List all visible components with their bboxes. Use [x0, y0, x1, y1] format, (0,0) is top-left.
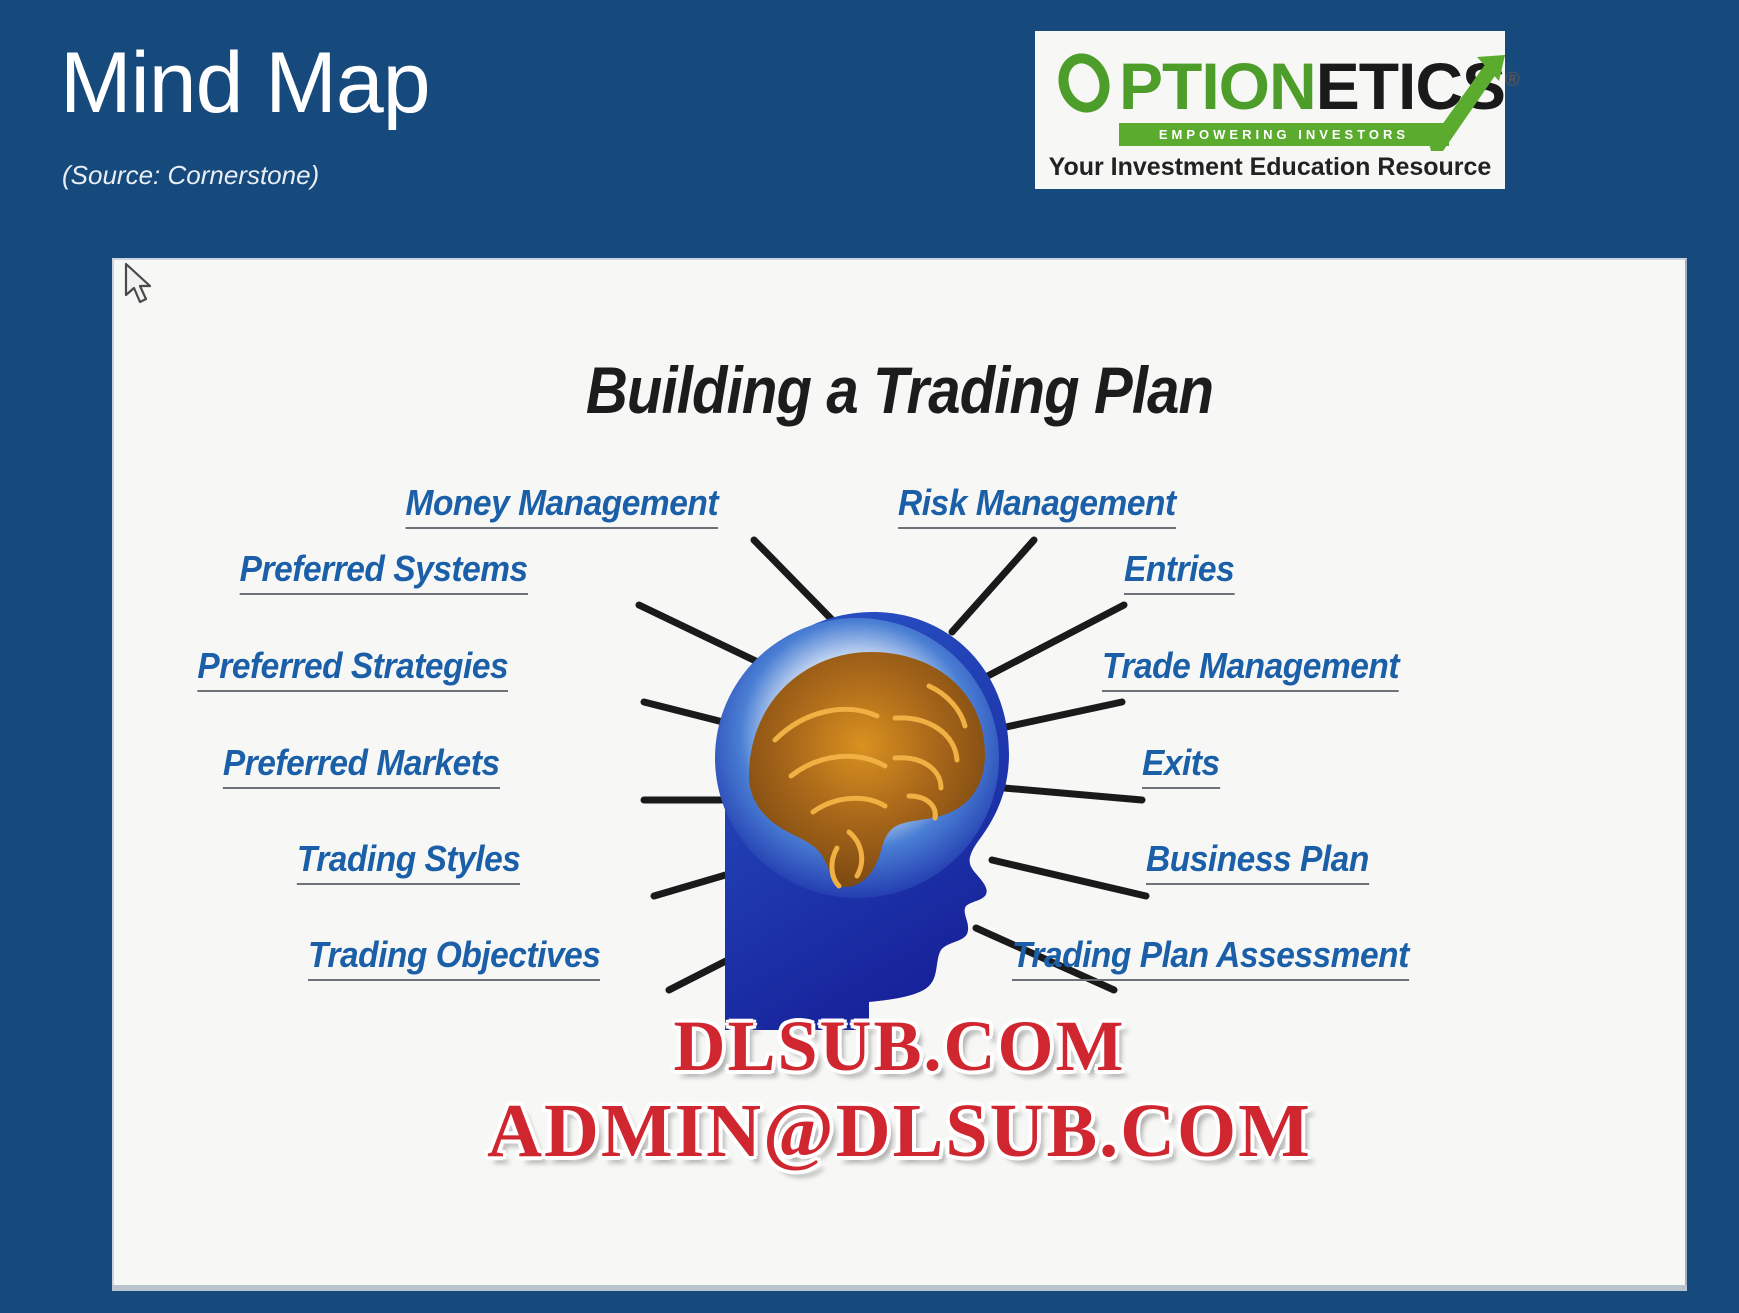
node-preferred-systems[interactable]: Preferred Systems	[240, 548, 528, 595]
node-business-plan[interactable]: Business Plan	[1146, 838, 1369, 885]
registered-trademark-icon: ®	[1505, 69, 1519, 91]
logo-tagline: Your Investment Education Resource	[1035, 153, 1505, 182]
slide-content-panel: Building a Trading Plan	[112, 258, 1687, 1285]
logo-o-icon	[1057, 51, 1119, 117]
optionetics-logo: PTIONETICS® EMPOWERING INVESTORS Your In…	[1035, 31, 1505, 189]
node-exits[interactable]: Exits	[1142, 742, 1220, 789]
node-trading-styles[interactable]: Trading Styles	[297, 838, 521, 885]
head-brain-graphic	[679, 590, 1049, 1030]
node-risk-management[interactable]: Risk Management	[898, 482, 1176, 529]
page-title: Mind Map	[60, 40, 430, 126]
node-preferred-strategies[interactable]: Preferred Strategies	[197, 645, 508, 692]
diagram-title: Building a Trading Plan	[208, 352, 1590, 428]
slide-source-note: (Source: Cornerstone)	[62, 160, 319, 191]
node-trading-objectives[interactable]: Trading Objectives	[308, 934, 600, 981]
node-preferred-markets[interactable]: Preferred Markets	[223, 742, 500, 789]
node-money-management[interactable]: Money Management	[406, 482, 719, 529]
watermark-site: DLSUB.COM	[114, 1005, 1685, 1088]
growth-arrow-icon	[1427, 55, 1505, 151]
logo-tagline-bar: EMPOWERING INVESTORS	[1119, 123, 1449, 146]
panel-bottom-strip	[112, 1285, 1687, 1291]
logo-bar-text: EMPOWERING INVESTORS	[1119, 123, 1449, 146]
node-entries[interactable]: Entries	[1124, 548, 1234, 595]
node-trading-plan-assessment[interactable]: Trading Plan Assessment	[1012, 934, 1409, 981]
logo-name-green: PTION	[1119, 49, 1316, 123]
mouse-cursor-icon	[122, 262, 156, 306]
node-trade-management[interactable]: Trade Management	[1102, 645, 1399, 692]
watermark-email: ADMIN@DLSUB.COM	[114, 1088, 1685, 1175]
